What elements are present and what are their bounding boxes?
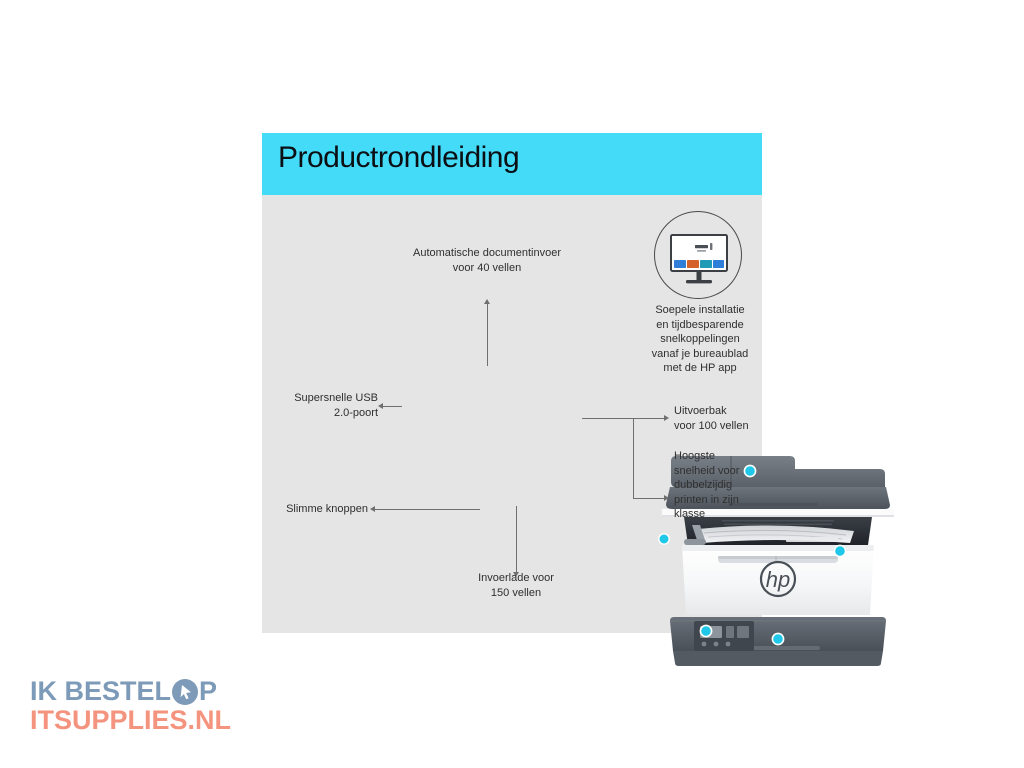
callout-output-bin: Uitvoerbak voor 100 vellen xyxy=(674,404,774,433)
connector-bin-arrow xyxy=(664,415,669,421)
connector-buttons xyxy=(372,509,480,510)
brand-line-1-text: IK BESTEL xyxy=(30,678,171,705)
connector-speed-arrow xyxy=(664,495,669,501)
connector-usb xyxy=(380,406,402,407)
usb-port-hotspot xyxy=(659,534,669,544)
input-tray-hotspot xyxy=(772,633,783,644)
callout-adf: Automatische documentinvoer voor 40 vell… xyxy=(380,246,594,275)
brand-line-1: IK BESTEL P xyxy=(30,678,231,705)
callout-speed: Hoogste snelheid voor dubbelzijdig print… xyxy=(674,449,766,522)
desktop-monitor-icon xyxy=(655,212,743,300)
connector-adf xyxy=(487,301,488,366)
connector-usb-arrow xyxy=(378,403,383,409)
hp-app-badge xyxy=(654,211,742,299)
connector-buttons-arrow xyxy=(370,506,375,512)
connector-bin-stem xyxy=(582,418,634,419)
callout-input-tray: Invoerlade voor 150 vellen xyxy=(426,571,606,600)
connector-tray xyxy=(516,506,517,574)
page-title: Productrondleiding xyxy=(278,141,519,175)
connector-bracket xyxy=(633,418,634,498)
connector-adf-arrow xyxy=(484,299,490,304)
mouse-cursor-icon xyxy=(172,679,198,705)
product-tour-card: Productrondleiding xyxy=(262,133,762,633)
brand-line-2: ITSUPPLIES.NL xyxy=(30,707,231,734)
callout-hp-app: Soepele installatie en tijdbesparende sn… xyxy=(638,303,762,376)
connector-speed-arm xyxy=(633,498,665,499)
callout-usb: Supersnelle USB 2.0-poort xyxy=(268,391,378,420)
smart-buttons-hotspot xyxy=(700,625,711,636)
brand-watermark: IK BESTEL P ITSUPPLIES.NL xyxy=(30,678,231,734)
output-bin-hotspot xyxy=(834,545,845,556)
svg-text:hp: hp xyxy=(766,567,790,592)
callout-smart-buttons: Slimme knoppen xyxy=(268,502,368,517)
hp-logo: hp xyxy=(761,562,795,596)
connector-bin-arm xyxy=(633,418,665,419)
card-banner: Productrondleiding xyxy=(262,133,762,195)
brand-line-1-tail: P xyxy=(199,678,217,705)
